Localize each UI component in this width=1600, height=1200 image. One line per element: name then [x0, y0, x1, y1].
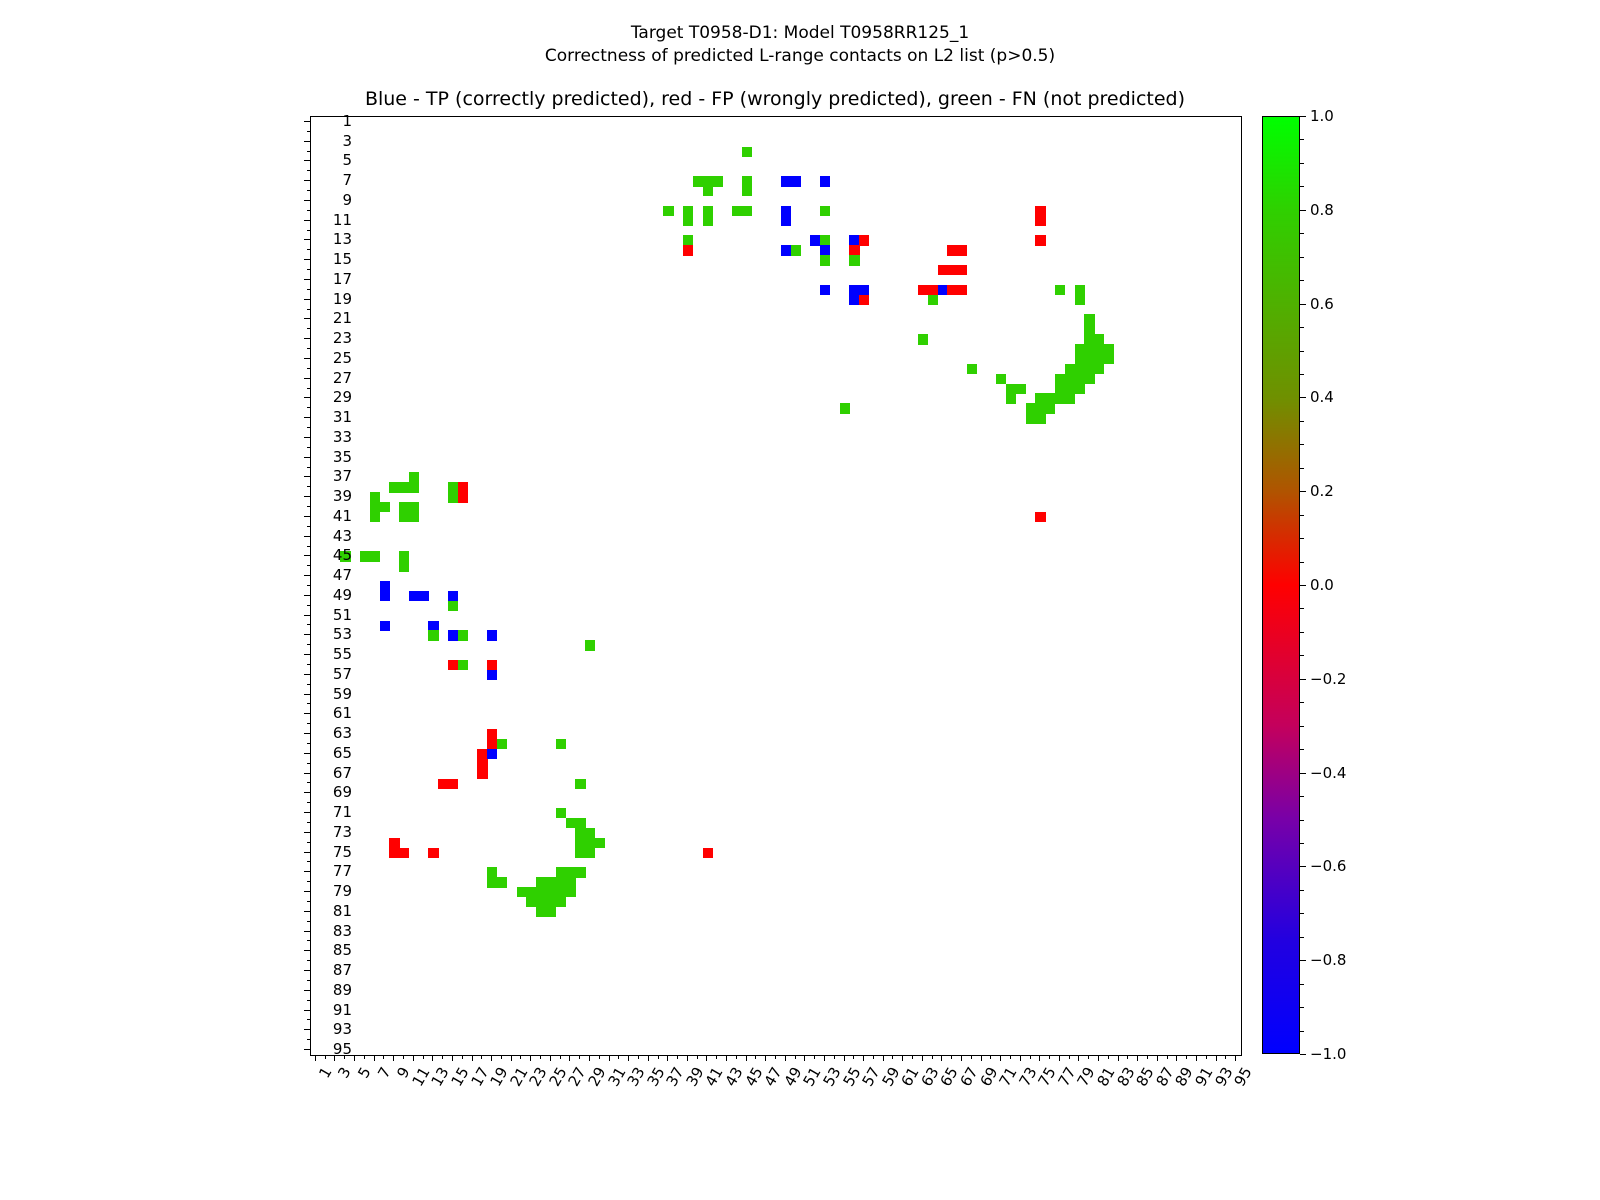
- y-axis-tick: [304, 773, 310, 774]
- x-axis-tick: [912, 1055, 913, 1059]
- y-axis-tick: [307, 921, 311, 922]
- x-axis-tick: [697, 1055, 698, 1059]
- y-axis-label: 63: [333, 724, 352, 742]
- y-axis-tick: [304, 299, 310, 300]
- y-axis-tick: [304, 812, 310, 813]
- contact-cell: [703, 206, 713, 216]
- y-axis-tick: [307, 546, 311, 547]
- contact-cell: [663, 206, 673, 216]
- y-axis-tick: [307, 743, 311, 744]
- contact-cell: [1084, 344, 1094, 354]
- colorbar-tick: [1300, 679, 1306, 680]
- y-axis-tick: [307, 230, 311, 231]
- y-axis-tick: [307, 782, 311, 783]
- y-axis-tick: [307, 467, 311, 468]
- contact-cell: [458, 660, 468, 670]
- y-axis-tick: [307, 723, 311, 724]
- contact-cell: [1045, 403, 1055, 413]
- figure-title-line2: Correctness of predicted L-range contact…: [0, 45, 1600, 68]
- colorbar-tick-label: −0.4: [1310, 764, 1346, 782]
- y-axis-tick: [304, 555, 310, 556]
- x-axis-tick: [755, 1055, 756, 1059]
- x-axis-tick: [413, 1055, 414, 1061]
- contact-cell: [810, 235, 820, 245]
- contact-cell: [1075, 354, 1085, 364]
- contact-cell: [1035, 403, 1045, 413]
- contact-cell: [389, 838, 399, 848]
- contact-cell: [380, 502, 390, 512]
- y-axis-label: 5: [342, 151, 352, 169]
- colorbar-minor-tick: [1300, 749, 1304, 750]
- contact-cell: [409, 512, 419, 522]
- contact-cell: [1065, 384, 1075, 394]
- colorbar-minor-tick: [1300, 444, 1304, 445]
- contact-cell: [487, 660, 497, 670]
- x-axis-tick: [638, 1055, 639, 1059]
- contact-cell: [1006, 384, 1016, 394]
- x-axis-tick: [765, 1055, 766, 1061]
- colorbar-minor-tick: [1300, 726, 1304, 727]
- contact-cell: [487, 877, 497, 887]
- y-axis-label: 77: [333, 862, 352, 880]
- contact-cell: [409, 482, 419, 492]
- colorbar-tick: [1300, 397, 1306, 398]
- x-axis-tick: [1206, 1055, 1207, 1059]
- contact-cell: [693, 176, 703, 186]
- contact-cell: [487, 749, 497, 759]
- contact-cell: [556, 877, 566, 887]
- contact-cell: [360, 551, 370, 561]
- contact-cell: [399, 848, 409, 858]
- contact-cell: [448, 482, 458, 492]
- y-axis-tick: [304, 753, 310, 754]
- contact-cell: [575, 779, 585, 789]
- x-axis-tick: [1167, 1055, 1168, 1059]
- contact-cell: [575, 818, 585, 828]
- contact-cell: [1075, 384, 1085, 394]
- contact-cell: [1045, 393, 1055, 403]
- y-axis-label: 35: [333, 448, 352, 466]
- contact-cell: [1084, 314, 1094, 324]
- contact-cell: [859, 285, 869, 295]
- contact-cell: [859, 235, 869, 245]
- contact-cell: [1035, 512, 1045, 522]
- x-axis-tick: [1118, 1055, 1119, 1061]
- y-axis-label: 9: [342, 191, 352, 209]
- y-axis-tick: [307, 565, 311, 566]
- colorbar-minor-tick: [1300, 421, 1304, 422]
- x-axis-tick: [677, 1055, 678, 1059]
- contact-cell: [399, 551, 409, 561]
- x-axis-tick: [560, 1055, 561, 1059]
- y-axis-label: 81: [333, 902, 352, 920]
- y-axis-label: 7: [342, 171, 352, 189]
- contact-cell: [1016, 384, 1026, 394]
- y-axis-tick: [307, 1000, 311, 1001]
- contact-cell: [1075, 285, 1085, 295]
- y-axis-tick: [307, 960, 311, 961]
- x-axis-tick: [1216, 1055, 1217, 1061]
- contact-cell: [556, 867, 566, 877]
- colorbar-minor-tick: [1300, 796, 1304, 797]
- contact-cell: [399, 561, 409, 571]
- colorbar-minor-tick: [1300, 374, 1304, 375]
- y-axis-label: 33: [333, 428, 352, 446]
- y-axis-tick: [307, 881, 311, 882]
- x-axis-tick: [726, 1055, 727, 1061]
- y-axis-label: 31: [333, 408, 352, 426]
- x-axis-tick: [834, 1055, 835, 1059]
- y-axis-tick: [304, 1029, 310, 1030]
- x-axis-tick: [1088, 1055, 1089, 1059]
- x-axis-tick: [853, 1055, 854, 1059]
- y-axis-label: 87: [333, 961, 352, 979]
- y-axis-label: 89: [333, 981, 352, 999]
- colorbar-minor-tick: [1300, 515, 1304, 516]
- contact-cell: [967, 364, 977, 374]
- contact-cell: [1026, 403, 1036, 413]
- contact-cell: [448, 660, 458, 670]
- y-axis-tick: [307, 249, 311, 250]
- contact-cell: [497, 877, 507, 887]
- y-axis-tick: [307, 388, 311, 389]
- contact-cell: [585, 828, 595, 838]
- contact-cell: [683, 235, 693, 245]
- contact-cell: [947, 285, 957, 295]
- contact-cell: [575, 828, 585, 838]
- y-axis-label: 57: [333, 665, 352, 683]
- colorbar-tick-label: −1.0: [1310, 1045, 1346, 1063]
- contact-cell: [781, 176, 791, 186]
- x-axis-tick: [1137, 1055, 1138, 1061]
- y-axis-tick: [304, 891, 310, 892]
- x-axis-tick: [824, 1055, 825, 1061]
- y-axis-tick: [307, 269, 311, 270]
- contact-cell: [1065, 364, 1075, 374]
- y-axis-tick: [304, 220, 310, 221]
- contact-cell: [409, 591, 419, 601]
- contact-cell: [438, 779, 448, 789]
- contact-cell: [1075, 344, 1085, 354]
- contact-cell: [370, 551, 380, 561]
- contact-cell: [957, 245, 967, 255]
- colorbar-tick-label: −0.8: [1310, 951, 1346, 969]
- y-axis-tick: [307, 822, 311, 823]
- contact-cell: [1035, 393, 1045, 403]
- contact-cell: [683, 245, 693, 255]
- contact-cell: [585, 848, 595, 858]
- y-axis-tick: [307, 447, 311, 448]
- x-axis-tick: [1059, 1055, 1060, 1061]
- y-axis-label: 27: [333, 369, 352, 387]
- contact-cell: [585, 640, 595, 650]
- y-axis-tick: [304, 239, 310, 240]
- contact-cell: [849, 295, 859, 305]
- colorbar-minor-tick: [1300, 351, 1304, 352]
- y-axis-tick: [304, 180, 310, 181]
- x-axis-tick: [481, 1055, 482, 1059]
- colorbar-minor-tick: [1300, 538, 1304, 539]
- colorbar-minor-tick: [1300, 608, 1304, 609]
- contact-cell: [380, 581, 390, 591]
- x-axis-tick: [609, 1055, 610, 1061]
- y-axis-tick: [304, 536, 310, 537]
- y-axis-label: 11: [333, 211, 352, 229]
- x-axis-tick: [403, 1055, 404, 1059]
- contact-cell: [399, 502, 409, 512]
- contact-cell: [477, 759, 487, 769]
- x-axis-tick: [1225, 1055, 1226, 1059]
- y-axis-tick: [307, 703, 311, 704]
- y-axis-tick: [304, 990, 310, 991]
- contact-cell: [849, 285, 859, 295]
- y-axis-tick: [304, 852, 310, 853]
- contact-cell: [585, 838, 595, 848]
- contact-cell: [546, 887, 556, 897]
- contact-cell: [526, 897, 536, 907]
- x-axis-tick: [648, 1055, 649, 1061]
- contact-cell: [947, 245, 957, 255]
- y-axis-tick: [307, 842, 311, 843]
- colorbar-tick: [1300, 960, 1306, 961]
- contact-cell: [448, 630, 458, 640]
- y-axis-tick: [304, 378, 310, 379]
- contact-cell: [536, 887, 546, 897]
- y-axis-tick: [304, 437, 310, 438]
- contact-cell: [575, 848, 585, 858]
- contact-cell: [1094, 364, 1104, 374]
- contact-cell: [389, 848, 399, 858]
- y-axis-tick: [304, 160, 310, 161]
- contact-cell: [703, 848, 713, 858]
- x-axis-tick: [1147, 1055, 1148, 1059]
- y-axis-tick: [304, 417, 310, 418]
- contact-cell: [458, 492, 468, 502]
- y-axis-label: 13: [333, 230, 352, 248]
- x-axis-tick: [804, 1055, 805, 1061]
- y-axis-label: 93: [333, 1020, 352, 1038]
- contact-cell: [448, 779, 458, 789]
- x-axis-tick: [1078, 1055, 1079, 1061]
- y-axis-tick: [304, 259, 310, 260]
- contact-cell: [487, 670, 497, 680]
- contact-cell: [1065, 374, 1075, 384]
- x-axis-tick: [863, 1055, 864, 1061]
- colorbar-minor-tick: [1300, 1007, 1304, 1008]
- y-axis-label: 1: [342, 112, 352, 130]
- x-axis-tick: [501, 1055, 502, 1059]
- contact-cell: [566, 887, 576, 897]
- y-axis-label: 21: [333, 309, 352, 327]
- contact-cell: [389, 482, 399, 492]
- y-axis-label: 69: [333, 783, 352, 801]
- colorbar-minor-tick: [1300, 233, 1304, 234]
- y-axis-tick: [307, 664, 311, 665]
- colorbar-tick: [1300, 116, 1306, 117]
- contact-cell: [957, 265, 967, 275]
- contact-cell: [380, 621, 390, 631]
- x-axis-tick: [325, 1055, 326, 1059]
- colorbar-minor-tick: [1300, 702, 1304, 703]
- x-axis-tick: [530, 1055, 531, 1061]
- figure-canvas: Target T0958-D1: Model T0958RR125_1 Corr…: [0, 0, 1600, 1200]
- y-axis-label: 15: [333, 250, 352, 268]
- x-axis-tick: [315, 1055, 316, 1061]
- y-axis-tick: [304, 950, 310, 951]
- contact-cell: [1094, 354, 1104, 364]
- colorbar-tick-label: 0.8: [1310, 201, 1334, 219]
- contact-cell: [536, 877, 546, 887]
- x-axis-tick: [472, 1055, 473, 1061]
- x-axis-tick: [452, 1055, 453, 1061]
- contact-cell: [849, 235, 859, 245]
- colorbar-minor-tick: [1300, 913, 1304, 914]
- x-axis-tick: [687, 1055, 688, 1061]
- contact-cell: [1094, 344, 1104, 354]
- contact-cell: [370, 512, 380, 522]
- y-axis-tick: [307, 190, 311, 191]
- x-axis-tick: [814, 1055, 815, 1059]
- contact-cell: [781, 216, 791, 226]
- contact-cell: [791, 245, 801, 255]
- y-axis-tick: [304, 970, 310, 971]
- contact-cell: [448, 601, 458, 611]
- colorbar-minor-tick: [1300, 655, 1304, 656]
- contact-cell: [448, 591, 458, 601]
- contact-cell: [1055, 374, 1065, 384]
- contact-cell: [1035, 206, 1045, 216]
- colorbar-minor-tick: [1300, 843, 1304, 844]
- contact-cell: [1084, 354, 1094, 364]
- contact-cell: [497, 739, 507, 749]
- colorbar-minor-tick: [1300, 139, 1304, 140]
- y-axis-label: 91: [333, 1001, 352, 1019]
- y-axis-tick: [307, 644, 311, 645]
- x-axis-tick: [354, 1055, 355, 1061]
- contact-cell: [448, 492, 458, 502]
- contact-cell: [409, 472, 419, 482]
- x-axis-tick: [922, 1055, 923, 1061]
- y-axis-tick: [304, 694, 310, 695]
- y-axis-tick: [304, 911, 310, 912]
- x-axis-tick: [1039, 1055, 1040, 1061]
- y-axis-tick: [307, 506, 311, 507]
- contact-cell: [1075, 364, 1085, 374]
- contact-cell: [575, 867, 585, 877]
- y-axis-tick: [304, 338, 310, 339]
- contact-cell: [1035, 413, 1045, 423]
- y-axis-tick: [307, 486, 311, 487]
- y-axis-tick: [304, 121, 310, 122]
- x-axis-tick: [491, 1055, 492, 1061]
- x-axis-tick: [589, 1055, 590, 1061]
- contact-cell: [781, 206, 791, 216]
- x-axis-tick: [706, 1055, 707, 1061]
- contact-cell: [399, 482, 409, 492]
- y-axis-label: 37: [333, 467, 352, 485]
- contact-cell: [820, 176, 830, 186]
- y-axis-tick: [304, 713, 310, 714]
- contact-cell: [1006, 393, 1016, 403]
- x-axis-tick: [1157, 1055, 1158, 1061]
- y-axis-tick: [307, 328, 311, 329]
- contact-cell: [742, 206, 752, 216]
- colorbar-minor-tick: [1300, 257, 1304, 258]
- contact-cell: [996, 374, 1006, 384]
- contact-cell: [536, 907, 546, 917]
- x-axis-tick: [1030, 1055, 1031, 1059]
- colorbar-minor-tick: [1300, 820, 1304, 821]
- contact-cell: [546, 897, 556, 907]
- colorbar-tick: [1300, 491, 1306, 492]
- colorbar-tick-label: 0.4: [1310, 388, 1334, 406]
- y-axis-label: 49: [333, 586, 352, 604]
- x-axis-tick: [462, 1055, 463, 1059]
- y-axis-tick: [304, 318, 310, 319]
- colorbar-tick-label: 0.6: [1310, 295, 1334, 313]
- contact-cell: [409, 502, 419, 512]
- contact-map-cells: [311, 117, 1241, 1055]
- colorbar-minor-tick: [1300, 1031, 1304, 1032]
- contact-cell: [1084, 364, 1094, 374]
- x-axis-tick: [667, 1055, 668, 1061]
- y-axis-tick: [304, 476, 310, 477]
- axes-legend-title: Blue - TP (correctly predicted), red - F…: [310, 88, 1240, 110]
- y-axis-tick: [307, 131, 311, 132]
- colorbar-minor-tick: [1300, 890, 1304, 891]
- colorbar-minor-tick: [1300, 327, 1304, 328]
- x-axis-tick: [746, 1055, 747, 1061]
- contact-cell: [536, 897, 546, 907]
- contact-cell: [477, 769, 487, 779]
- contact-cell: [742, 186, 752, 196]
- contact-cell: [487, 729, 497, 739]
- contact-cell: [918, 334, 928, 344]
- x-axis-tick: [941, 1055, 942, 1061]
- contact-cell: [918, 285, 928, 295]
- x-axis-tick: [1020, 1055, 1021, 1061]
- y-axis-label: 67: [333, 764, 352, 782]
- x-axis-tick: [569, 1055, 570, 1061]
- y-axis-label: 59: [333, 685, 352, 703]
- colorbar[interactable]: 1.00.80.60.40.20.0−0.2−0.4−0.6−0.8−1.0: [1262, 116, 1300, 1054]
- contact-cell: [575, 838, 585, 848]
- y-axis-tick: [307, 210, 311, 211]
- y-axis-tick: [304, 279, 310, 280]
- contact-cell: [370, 502, 380, 512]
- y-axis-tick: [304, 871, 310, 872]
- contact-map-plot[interactable]: [310, 116, 1242, 1056]
- y-axis-tick: [304, 358, 310, 359]
- contact-cell: [526, 887, 536, 897]
- y-axis-label: 3: [342, 132, 352, 150]
- x-axis-tick: [990, 1055, 991, 1059]
- x-axis-tick: [364, 1055, 365, 1059]
- y-axis-label: 19: [333, 290, 352, 308]
- colorbar-minor-tick: [1300, 163, 1304, 164]
- y-axis-tick: [304, 832, 310, 833]
- x-axis-tick: [883, 1055, 884, 1061]
- x-axis-tick: [393, 1055, 394, 1061]
- contact-cell: [1094, 334, 1104, 344]
- y-axis-tick: [307, 980, 311, 981]
- contact-cell: [820, 255, 830, 265]
- colorbar-minor-tick: [1300, 562, 1304, 563]
- contact-cell: [683, 216, 693, 226]
- x-axis-tick: [961, 1055, 962, 1061]
- figure-title-line1: Target T0958-D1: Model T0958RR125_1: [0, 22, 1600, 45]
- colorbar-tick-label: 0.2: [1310, 482, 1334, 500]
